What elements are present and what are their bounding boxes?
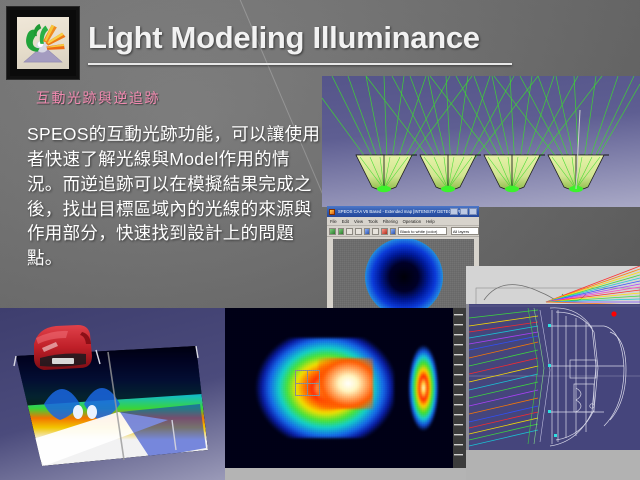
app-toolbar[interactable]: Black to white (color) All layers (327, 226, 479, 237)
layers-select[interactable]: All layers (451, 227, 479, 235)
image-cad-reverse-raytrace (466, 266, 640, 480)
menu-item-operation[interactable]: Operation (403, 219, 421, 224)
toolbar-save-icon[interactable] (338, 228, 345, 235)
maximize-button[interactable] (460, 208, 468, 215)
minimize-button[interactable] (450, 208, 458, 215)
app-title-bar: SPEOS CAA V5 Based - Extended map [INTEN… (327, 206, 479, 217)
app-window-icon (329, 209, 335, 215)
car-bumper (34, 325, 92, 370)
section-subheading: 互動光跡與逆追跡 (36, 88, 160, 108)
toolbar-open-icon[interactable] (329, 228, 336, 235)
cad-raytrace-svg (466, 266, 640, 480)
app-window-title: SPEOS CAA V5 Based - Extended map [INTEN… (338, 209, 465, 214)
menu-item-help[interactable]: Help (426, 219, 435, 224)
beam-footer-strip (225, 468, 467, 480)
window-controls[interactable] (450, 208, 477, 215)
canvas-noise-overlay (333, 239, 474, 313)
ray-origin-marker (611, 311, 616, 316)
light-rays-icon (17, 17, 69, 69)
title-underline (88, 63, 512, 65)
body-paragraph: SPEOS的互動光跡功能，可以讓使用者快速了解光線與Model作用的情況。而逆追… (27, 122, 322, 271)
beam-noise-overlay (225, 308, 453, 468)
toolbar-measure-icon[interactable] (372, 228, 379, 235)
image-beam-pattern (225, 308, 467, 480)
image-road-illuminance (0, 308, 225, 480)
slide-canvas: Light Modeling Illuminance 互動光跡與逆追跡 SPEO… (0, 0, 640, 480)
beam-field[interactable] (225, 308, 453, 468)
menu-item-edit[interactable]: Edit (342, 219, 349, 224)
menu-item-filtering[interactable]: Filtering (383, 219, 398, 224)
page-title: Light Modeling Illuminance (88, 22, 518, 53)
menu-item-file[interactable]: File (330, 219, 337, 224)
toolbar-palette-icon[interactable] (381, 228, 388, 235)
scale-bar-ticks (453, 308, 467, 468)
toolbar-fit-icon[interactable] (355, 228, 362, 235)
road-illuminance-svg (0, 308, 225, 480)
speos-logo (7, 7, 79, 79)
image-intensity-detector-window: SPEOS CAA V5 Based - Extended map [INTEN… (327, 206, 479, 313)
close-button[interactable] (469, 208, 477, 215)
beam-color-scale-bar (453, 308, 467, 468)
logo-inner (17, 17, 69, 69)
intensity-map-canvas[interactable] (333, 239, 474, 313)
image-ray-trace-reflectors (322, 76, 640, 207)
menu-item-view[interactable]: View (354, 219, 363, 224)
toolbar-chart-icon[interactable] (390, 228, 397, 235)
colormap-select[interactable]: Black to white (color) (398, 227, 447, 235)
app-menu-bar[interactable]: File Edit View Tools Filtering Operation… (327, 217, 479, 226)
menu-item-tools[interactable]: Tools (368, 219, 378, 224)
toolbar-zoom-icon[interactable] (346, 228, 353, 235)
ray-trace-svg (322, 76, 640, 207)
toolbar-grid-icon[interactable] (364, 228, 371, 235)
